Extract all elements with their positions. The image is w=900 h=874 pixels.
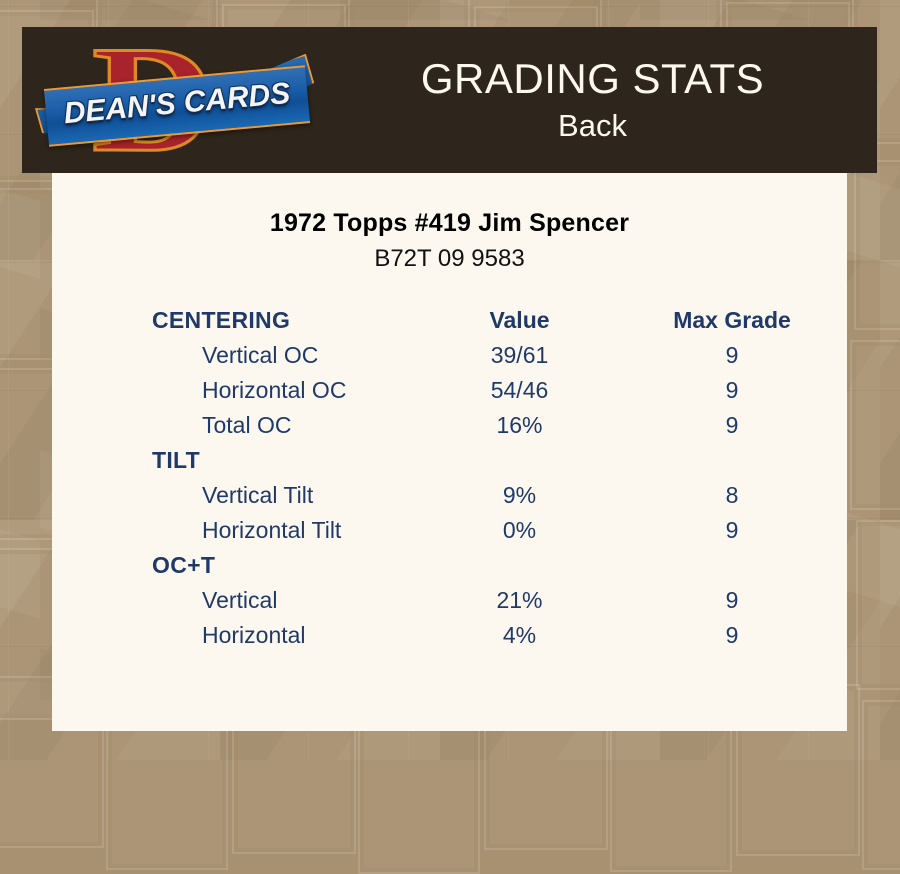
row-max-grade: 9: [617, 618, 847, 653]
row-max-grade: 9: [617, 408, 847, 443]
row-label: Horizontal: [52, 618, 422, 653]
row-max-grade: 8: [617, 478, 847, 513]
table-row: Horizontal 4% 9: [52, 618, 847, 653]
section-header-centering: CENTERING: [52, 303, 422, 338]
page-title: GRADING STATS: [421, 54, 764, 104]
row-label: Horizontal Tilt: [52, 513, 422, 548]
row-max-grade: 9: [617, 513, 847, 548]
header-title-group: GRADING STATS Back: [308, 27, 877, 173]
header-bar: D DEAN'S CARDS GRADING STATS Back: [22, 27, 877, 173]
section-header-oc-plus-t: OC+T: [52, 548, 422, 583]
row-value: 4%: [422, 618, 617, 653]
column-header-max-grade: Max Grade: [617, 303, 847, 338]
table-row: Total OC 16% 9: [52, 408, 847, 443]
row-label: Total OC: [52, 408, 422, 443]
row-value: 9%: [422, 478, 617, 513]
row-value: 0%: [422, 513, 617, 548]
column-header-value: Value: [422, 303, 617, 338]
row-value: 16%: [422, 408, 617, 443]
table-row: Vertical 21% 9: [52, 583, 847, 618]
card-title: 1972 Topps #419 Jim Spencer: [52, 209, 847, 238]
row-label: Horizontal OC: [52, 373, 422, 408]
grading-stats-table: CENTERING Value Max Grade Vertical OC 39…: [52, 303, 847, 653]
section-header-tilt: TILT: [52, 443, 422, 478]
table-section-row: OC+T: [52, 548, 847, 583]
row-max-grade: 9: [617, 373, 847, 408]
section-spacer-grade: [617, 548, 847, 583]
row-max-grade: 9: [617, 583, 847, 618]
table-row: Horizontal OC 54/46 9: [52, 373, 847, 408]
table-section-row: TILT: [52, 443, 847, 478]
section-spacer-value: [422, 443, 617, 478]
row-label: Vertical OC: [52, 338, 422, 373]
row-max-grade: 9: [617, 338, 847, 373]
row-value: 39/61: [422, 338, 617, 373]
section-spacer-grade: [617, 443, 847, 478]
section-spacer-value: [422, 548, 617, 583]
row-value: 21%: [422, 583, 617, 618]
table-body: Vertical OC 39/61 9 Horizontal OC 54/46 …: [52, 338, 847, 653]
deans-cards-logo[interactable]: D DEAN'S CARDS: [46, 31, 308, 171]
table-row: Vertical OC 39/61 9: [52, 338, 847, 373]
row-value: 54/46: [422, 373, 617, 408]
row-label: Vertical Tilt: [52, 478, 422, 513]
card-serial-number: B72T 09 9583: [52, 245, 847, 273]
page-subtitle: Back: [558, 106, 627, 146]
grading-stats-panel: 1972 Topps #419 Jim Spencer B72T 09 9583…: [52, 173, 847, 731]
table-head: CENTERING Value Max Grade: [52, 303, 847, 338]
table-header-row: CENTERING Value Max Grade: [52, 303, 847, 338]
row-label: Vertical: [52, 583, 422, 618]
table-row: Vertical Tilt 9% 8: [52, 478, 847, 513]
table-row: Horizontal Tilt 0% 9: [52, 513, 847, 548]
